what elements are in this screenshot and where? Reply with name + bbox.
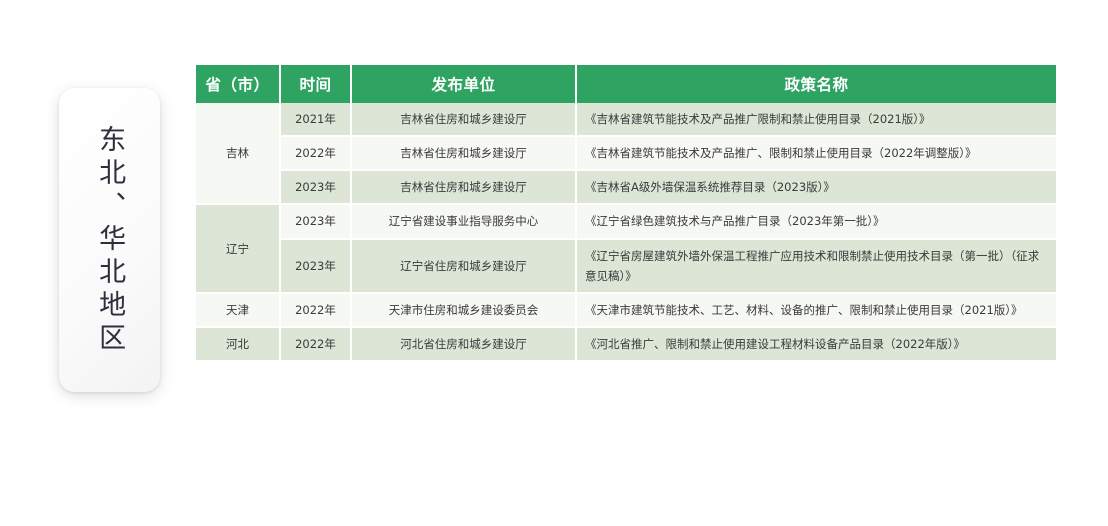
cell-policy-name: 《天津市建筑节能技术、工艺、材料、设备的推广、限制和禁止使用目录（2021版）》: [576, 293, 1056, 327]
cell-time: 2023年: [280, 204, 351, 238]
policy-table: 省（市） 时间 发布单位 政策名称 吉林2021年吉林省住房和城乡建设厅《吉林省…: [196, 65, 1056, 360]
cell-time: 2022年: [280, 327, 351, 360]
cell-issuer: 吉林省住房和城乡建设厅: [351, 103, 576, 136]
cell-time: 2022年: [280, 136, 351, 170]
cell-province: 河北: [196, 327, 280, 360]
cell-province: 辽宁: [196, 204, 280, 292]
cell-policy-name: 《辽宁省房屋建筑外墙外保温工程推广应用技术和限制禁止使用技术目录（第一批）（征求…: [576, 239, 1056, 293]
column-header-issuer: 发布单位: [351, 65, 576, 103]
cell-policy-name: 《河北省推广、限制和禁止使用建设工程材料设备产品目录（2022年版）》: [576, 327, 1056, 360]
column-header-time: 时间: [280, 65, 351, 103]
table-row: 天津2022年天津市住房和城乡建设委员会《天津市建筑节能技术、工艺、材料、设备的…: [196, 293, 1056, 327]
column-header-policy-name: 政策名称: [576, 65, 1056, 103]
cell-time: 2023年: [280, 170, 351, 204]
cell-issuer: 吉林省住房和城乡建设厅: [351, 136, 576, 170]
table-row: 辽宁2023年辽宁省建设事业指导服务中心《辽宁省绿色建筑技术与产品推广目录（20…: [196, 204, 1056, 238]
cell-time: 2023年: [280, 239, 351, 293]
region-label-text: 东北、华北地区: [95, 125, 124, 356]
cell-time: 2022年: [280, 293, 351, 327]
cell-policy-name: 《辽宁省绿色建筑技术与产品推广目录（2023年第一批）》: [576, 204, 1056, 238]
cell-province: 天津: [196, 293, 280, 327]
cell-issuer: 天津市住房和城乡建设委员会: [351, 293, 576, 327]
cell-policy-name: 《吉林省建筑节能技术及产品推广、限制和禁止使用目录（2022年调整版）》: [576, 136, 1056, 170]
table-header: 省（市） 时间 发布单位 政策名称: [196, 65, 1056, 103]
cell-issuer: 辽宁省住房和城乡建设厅: [351, 239, 576, 293]
table-body: 吉林2021年吉林省住房和城乡建设厅《吉林省建筑节能技术及产品推广限制和禁止使用…: [196, 103, 1056, 360]
table-row: 河北2022年河北省住房和城乡建设厅《河北省推广、限制和禁止使用建设工程材料设备…: [196, 327, 1056, 360]
cell-issuer: 吉林省住房和城乡建设厅: [351, 170, 576, 204]
region-label-card: 东北、华北地区: [59, 88, 160, 392]
cell-issuer: 辽宁省建设事业指导服务中心: [351, 204, 576, 238]
cell-time: 2021年: [280, 103, 351, 136]
table-header-row: 省（市） 时间 发布单位 政策名称: [196, 65, 1056, 103]
cell-province: 吉林: [196, 103, 280, 204]
policy-table-wrapper: 省（市） 时间 发布单位 政策名称 吉林2021年吉林省住房和城乡建设厅《吉林省…: [196, 65, 1056, 360]
cell-issuer: 河北省住房和城乡建设厅: [351, 327, 576, 360]
table-row: 吉林2021年吉林省住房和城乡建设厅《吉林省建筑节能技术及产品推广限制和禁止使用…: [196, 103, 1056, 136]
column-header-province: 省（市）: [196, 65, 280, 103]
table-row: 2022年吉林省住房和城乡建设厅《吉林省建筑节能技术及产品推广、限制和禁止使用目…: [196, 136, 1056, 170]
cell-policy-name: 《吉林省A级外墙保温系统推荐目录（2023版）》: [576, 170, 1056, 204]
page-root: 东北、华北地区 省（市） 时间 发布单位 政策名称 吉林2021年吉林省住房和城…: [0, 0, 1108, 526]
table-row: 2023年辽宁省住房和城乡建设厅《辽宁省房屋建筑外墙外保温工程推广应用技术和限制…: [196, 239, 1056, 293]
cell-policy-name: 《吉林省建筑节能技术及产品推广限制和禁止使用目录（2021版）》: [576, 103, 1056, 136]
table-row: 2023年吉林省住房和城乡建设厅《吉林省A级外墙保温系统推荐目录（2023版）》: [196, 170, 1056, 204]
